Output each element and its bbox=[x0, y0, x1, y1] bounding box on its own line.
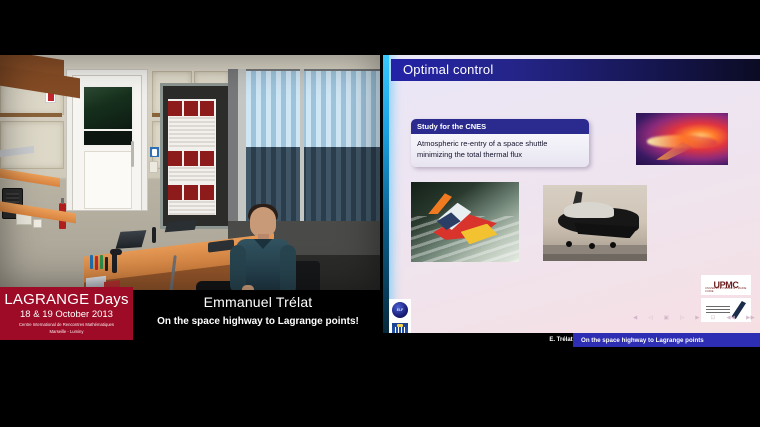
video-player-frame: Optimal control Study for the CNES Atmos… bbox=[0, 0, 760, 427]
event-logo-city: Marseille - Luminy bbox=[50, 329, 84, 334]
beamer-navigation-bar[interactable]: ◀ ◁ ▣ ▷ ▶ ⊡ ◀◀ ▶▶ bbox=[633, 313, 755, 322]
upmc-logo: UPMC UNIVERSITE PIERRE ET MARIE CURIE bbox=[701, 275, 751, 295]
thermal-flux-visualization-image bbox=[636, 113, 728, 165]
slide-status-bar: E. Trélat On the space highway to Lagran… bbox=[383, 333, 760, 347]
light-switch bbox=[149, 161, 158, 173]
microphone-stand bbox=[152, 227, 156, 243]
acoustic-panel bbox=[0, 121, 64, 169]
door-window-lower bbox=[82, 129, 134, 147]
reentry-simulation-image bbox=[411, 182, 519, 262]
nav-prev-icon[interactable]: ◁ bbox=[648, 315, 652, 321]
presenter-head bbox=[250, 207, 276, 237]
speaker-name: Emmanuel Trélat bbox=[133, 294, 383, 310]
presenter-arm-left bbox=[230, 245, 246, 290]
laptop-screen bbox=[116, 230, 147, 249]
presenter-arm-right bbox=[280, 245, 296, 290]
event-logo-line1: LAGRANGE Days bbox=[4, 292, 128, 308]
nav-forward-icon[interactable]: ▶ bbox=[695, 315, 699, 321]
event-logo-days: Days bbox=[94, 291, 129, 308]
status-title: On the space highway to Lagrange points bbox=[573, 333, 760, 347]
cnes-callout-box: Study for the CNES Atmospheric re-entry … bbox=[411, 119, 589, 167]
desk-items bbox=[88, 255, 128, 281]
event-logo: LAGRANGE Days 18 & 19 October 2013 Centr… bbox=[0, 287, 133, 340]
wall-trim bbox=[0, 113, 62, 117]
slide-accent-bar bbox=[383, 55, 389, 335]
slide-title: Optimal control bbox=[391, 59, 760, 81]
event-logo-venue: Centre International de Rencontres Mathé… bbox=[19, 322, 114, 327]
upmc-logo-subtext: UNIVERSITE PIERRE ET MARIE CURIE bbox=[705, 287, 751, 293]
wheelchair-access-icon bbox=[150, 147, 159, 157]
nav-first-icon[interactable]: ◀ bbox=[633, 315, 637, 321]
event-logo-lagrange: LAGRANGE bbox=[4, 291, 89, 308]
talk-title: On the space highway to Lagrange points! bbox=[133, 316, 383, 327]
conference-poster bbox=[168, 99, 216, 215]
cnes-callout-header: Study for the CNES bbox=[411, 119, 589, 134]
event-logo-dates: 18 & 19 October 2013 bbox=[20, 309, 113, 320]
nav-frame-icon[interactable]: ▣ bbox=[664, 315, 669, 321]
nav-section-icon[interactable]: ⊡ bbox=[711, 315, 716, 321]
lecture-room-video[interactable] bbox=[0, 55, 380, 290]
nav-back-all-icon[interactable]: ◀◀ bbox=[726, 315, 735, 321]
door-panel bbox=[84, 151, 132, 209]
nav-next-icon[interactable]: ▷ bbox=[680, 315, 684, 321]
cnes-callout-body: Atmospheric re-entry of a space shuttle … bbox=[411, 134, 589, 167]
door-window bbox=[82, 85, 134, 131]
talk-caption: Emmanuel Trélat On the space highway to … bbox=[133, 290, 383, 340]
nav-fwd-all-icon[interactable]: ▶▶ bbox=[746, 315, 755, 321]
institute-badge-a: ELF bbox=[389, 299, 411, 321]
power-socket bbox=[33, 219, 42, 228]
door-handle bbox=[131, 141, 134, 167]
shuttle-landing-photo-image bbox=[543, 185, 647, 261]
presentation-slide[interactable]: Optimal control Study for the CNES Atmos… bbox=[383, 55, 760, 335]
institute-badge-a-text: ELF bbox=[392, 302, 408, 318]
presenter-figure bbox=[228, 207, 298, 290]
